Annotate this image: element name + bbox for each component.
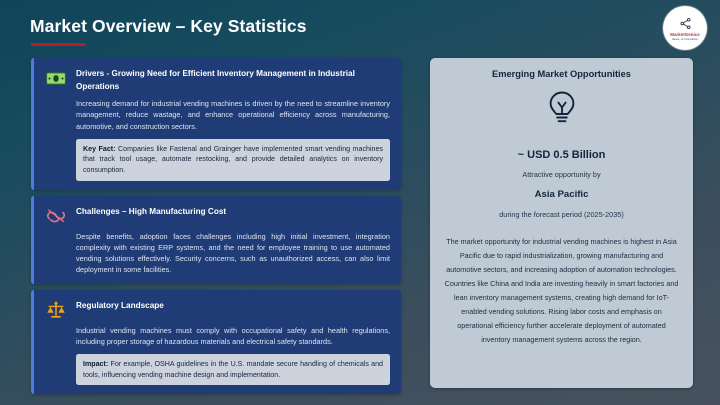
money-bill-icon — [45, 68, 67, 88]
card-body-text: Increasing demand for industrial vending… — [76, 98, 390, 131]
card-title: Challenges – High Manufacturing Cost — [76, 205, 226, 219]
card-header: Drivers - Growing Need for Efficient Inv… — [45, 67, 390, 93]
opportunity-region: Asia Pacific — [535, 189, 589, 200]
card-challenges[interactable]: Challenges – High Manufacturing Cost Des… — [31, 196, 401, 284]
brand-logo: MarketGenics Ideas, to Innovation — [663, 6, 707, 50]
panel-title: Emerging Market Opportunities — [492, 69, 631, 79]
callout-label: Key Fact: — [83, 145, 116, 153]
card-header: Challenges – High Manufacturing Cost — [45, 205, 390, 226]
cards-column: Drivers - Growing Need for Efficient Inv… — [31, 58, 401, 400]
opportunity-amount: ~ USD 0.5 Billion — [518, 149, 606, 161]
card-regulatory[interactable]: Regulatory Landscape Industrial vending … — [31, 290, 401, 394]
broken-chain-icon — [45, 206, 67, 226]
card-title: Regulatory Landscape — [76, 299, 164, 313]
balance-scale-icon — [45, 300, 67, 320]
impact-callout: Impact: For example, OSHA guidelines in … — [76, 354, 390, 385]
lightbulb-icon — [547, 90, 577, 131]
callout-text: For example, OSHA guidelines in the U.S.… — [83, 360, 383, 379]
opportunity-description: The market opportunity for industrial ve… — [444, 235, 679, 347]
logo-brand-name: MarketGenics — [670, 32, 699, 37]
opportunity-subtitle: Attractive opportunity by — [522, 170, 600, 179]
share-nodes-icon — [679, 15, 692, 30]
emerging-opportunities-panel: Emerging Market Opportunities ~ USD 0.5 … — [430, 58, 693, 388]
forecast-period: during the forecast period (2025-2035) — [499, 210, 624, 219]
card-header: Regulatory Landscape — [45, 299, 390, 320]
page-title: Market Overview – Key Statistics — [30, 16, 307, 37]
card-title: Drivers - Growing Need for Efficient Inv… — [76, 67, 390, 93]
callout-text: Companies like Fastenal and Grainger hav… — [83, 145, 383, 174]
logo-tagline: Ideas, to Innovation — [672, 37, 698, 41]
key-fact-callout: Key Fact: Companies like Fastenal and Gr… — [76, 139, 390, 181]
title-underline-rule — [31, 43, 86, 46]
card-drivers[interactable]: Drivers - Growing Need for Efficient Inv… — [31, 58, 401, 190]
card-body-text: Industrial vending machines must comply … — [76, 325, 390, 347]
card-body-text: Despite benefits, adoption faces challen… — [76, 231, 390, 275]
slide-root: Market Overview – Key Statistics MarketG… — [0, 0, 720, 405]
callout-label: Impact: — [83, 360, 108, 368]
